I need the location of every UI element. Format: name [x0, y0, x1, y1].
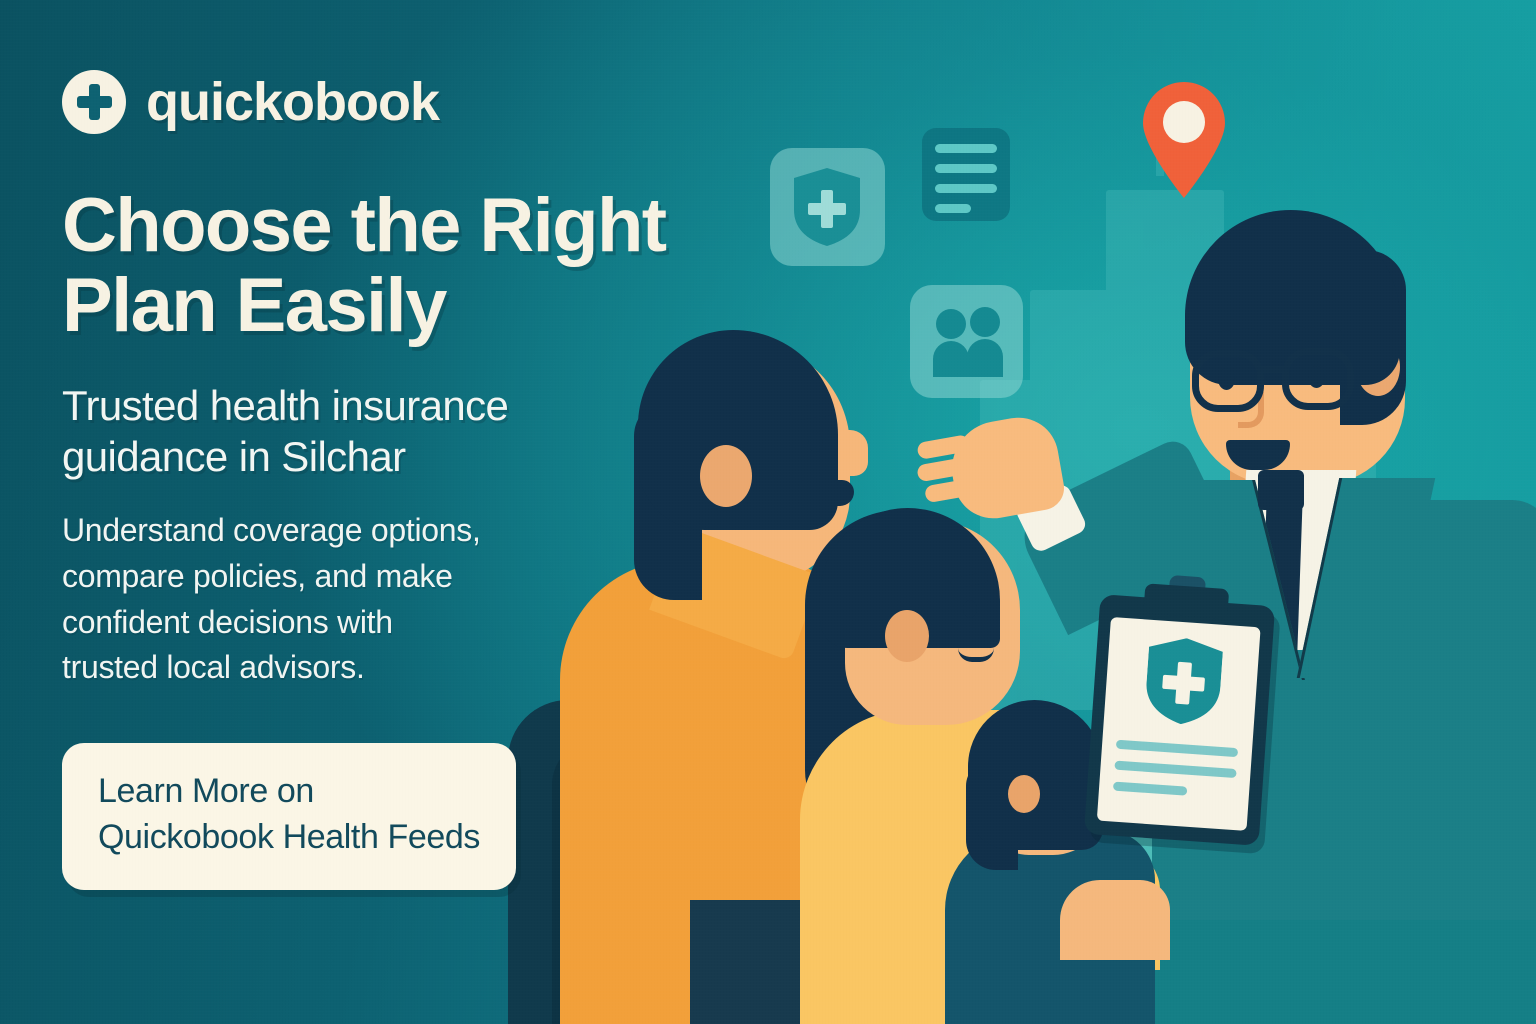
family-group-icon [930, 307, 1004, 377]
clipboard-text-line [1116, 740, 1238, 757]
cta-line-2: Quickobook Health Feeds [98, 815, 480, 861]
headline-line-1: Choose the Right [62, 186, 802, 266]
floating-card-family [910, 285, 1023, 398]
medical-cross-badge-icon [62, 70, 126, 134]
marketing-banner: quickobook Choose the Right Plan Easily … [0, 0, 1536, 1024]
father-mouth [798, 480, 854, 506]
clipboard-clamp [1143, 583, 1229, 619]
cta-line-1: Learn More on [98, 769, 480, 815]
body-line-1: Understand coverage options, [62, 508, 582, 554]
hero-copy-block: quickobook Choose the Right Plan Easily … [62, 0, 802, 890]
subheadline: Trusted health insurance guidance in Sil… [62, 380, 802, 482]
clipboard-text-line [1114, 761, 1236, 778]
child-ear [1008, 775, 1040, 813]
mother-eye [963, 600, 977, 618]
clipboard-policy-document [1084, 594, 1275, 846]
eyeglasses-bridge [1260, 366, 1286, 373]
advisor-eye-right [1308, 366, 1325, 388]
body-line-2: compare policies, and make [62, 554, 582, 600]
floating-card-document [922, 128, 1010, 221]
child-hair [968, 700, 1103, 850]
page-title: Choose the Right Plan Easily [62, 186, 802, 346]
clipboard-text-line [1113, 782, 1187, 796]
shield-plus-icon [1144, 636, 1224, 727]
child-eye [1062, 772, 1074, 787]
subhead-line-2: guidance in Silchar [62, 431, 802, 482]
father-nose [838, 430, 868, 476]
shield-plus-icon [794, 168, 860, 246]
body-line-3: confident decisions with [62, 600, 582, 646]
advisor-eye-left [1218, 368, 1235, 390]
brand-logo[interactable]: quickobook [62, 70, 802, 134]
learn-more-button[interactable]: Learn More on Quickobook Health Feeds [62, 743, 516, 890]
father-eye [808, 432, 823, 452]
subhead-line-1: Trusted health insurance [62, 380, 802, 431]
clipboard-paper [1097, 617, 1261, 831]
brand-name: quickobook [146, 71, 439, 133]
headline-line-2: Plan Easily [62, 266, 802, 346]
document-lines-icon [935, 144, 997, 153]
map-pin-icon [1143, 82, 1225, 198]
mother-ear [885, 610, 929, 662]
child-arm [1060, 880, 1170, 960]
body-line-4: trusted local advisors. [62, 645, 582, 691]
body-paragraph: Understand coverage options, compare pol… [62, 508, 582, 691]
advisor-necktie-knot [1258, 470, 1304, 510]
